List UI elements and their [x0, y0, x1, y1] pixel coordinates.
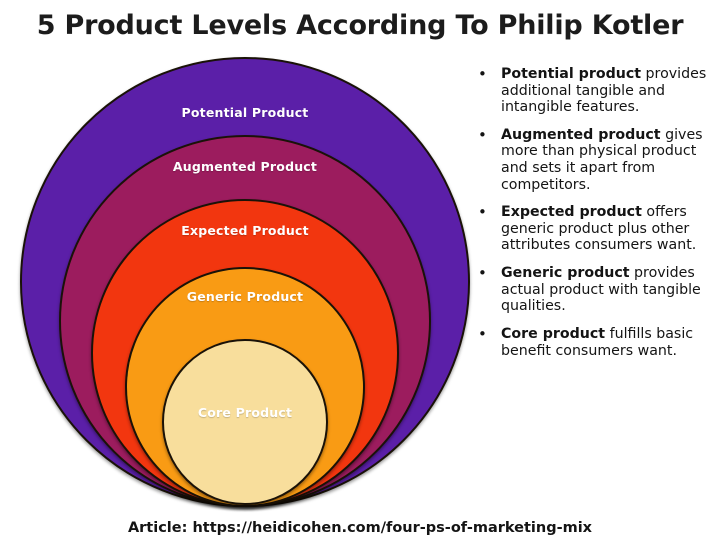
circle-label-generic-product: Generic Product	[127, 289, 363, 304]
page-title: 5 Product Levels According To Philip Kot…	[0, 10, 720, 41]
bullet-dot-icon: •	[478, 204, 487, 222]
list-item-lead: Expected product	[501, 204, 642, 220]
list-item: • Augmented product gives more than phys…	[474, 127, 716, 193]
list-item-lead: Core product	[501, 326, 605, 342]
list-item: • Potential product provides additional …	[474, 66, 716, 116]
bullet-dot-icon: •	[478, 127, 487, 145]
list-item: • Generic product provides actual produc…	[474, 265, 716, 315]
circle-label-expected-product: Expected Product	[93, 223, 397, 238]
bullet-dot-icon: •	[478, 326, 487, 344]
list-item-lead: Potential product	[501, 66, 641, 82]
circle-core-product: Core Product	[162, 339, 328, 505]
list-item: • Core product fulfills basic benefit co…	[474, 326, 716, 359]
circle-label-augmented-product: Augmented Product	[61, 159, 429, 174]
product-levels-description-list: • Potential product provides additional …	[474, 66, 716, 370]
bullet-dot-icon: •	[478, 265, 487, 283]
list-item-lead: Augmented product	[501, 127, 661, 143]
product-levels-diagram: Potential Product Augmented Product Expe…	[8, 52, 468, 507]
source-article-caption: Article: https://heidicohen.com/four-ps-…	[0, 520, 720, 536]
circle-label-core-product: Core Product	[164, 405, 326, 420]
list-item-lead: Generic product	[501, 265, 630, 281]
bullet-dot-icon: •	[478, 66, 487, 84]
list-item: • Expected product offers generic produc…	[474, 204, 716, 254]
circle-label-potential-product: Potential Product	[22, 105, 468, 120]
